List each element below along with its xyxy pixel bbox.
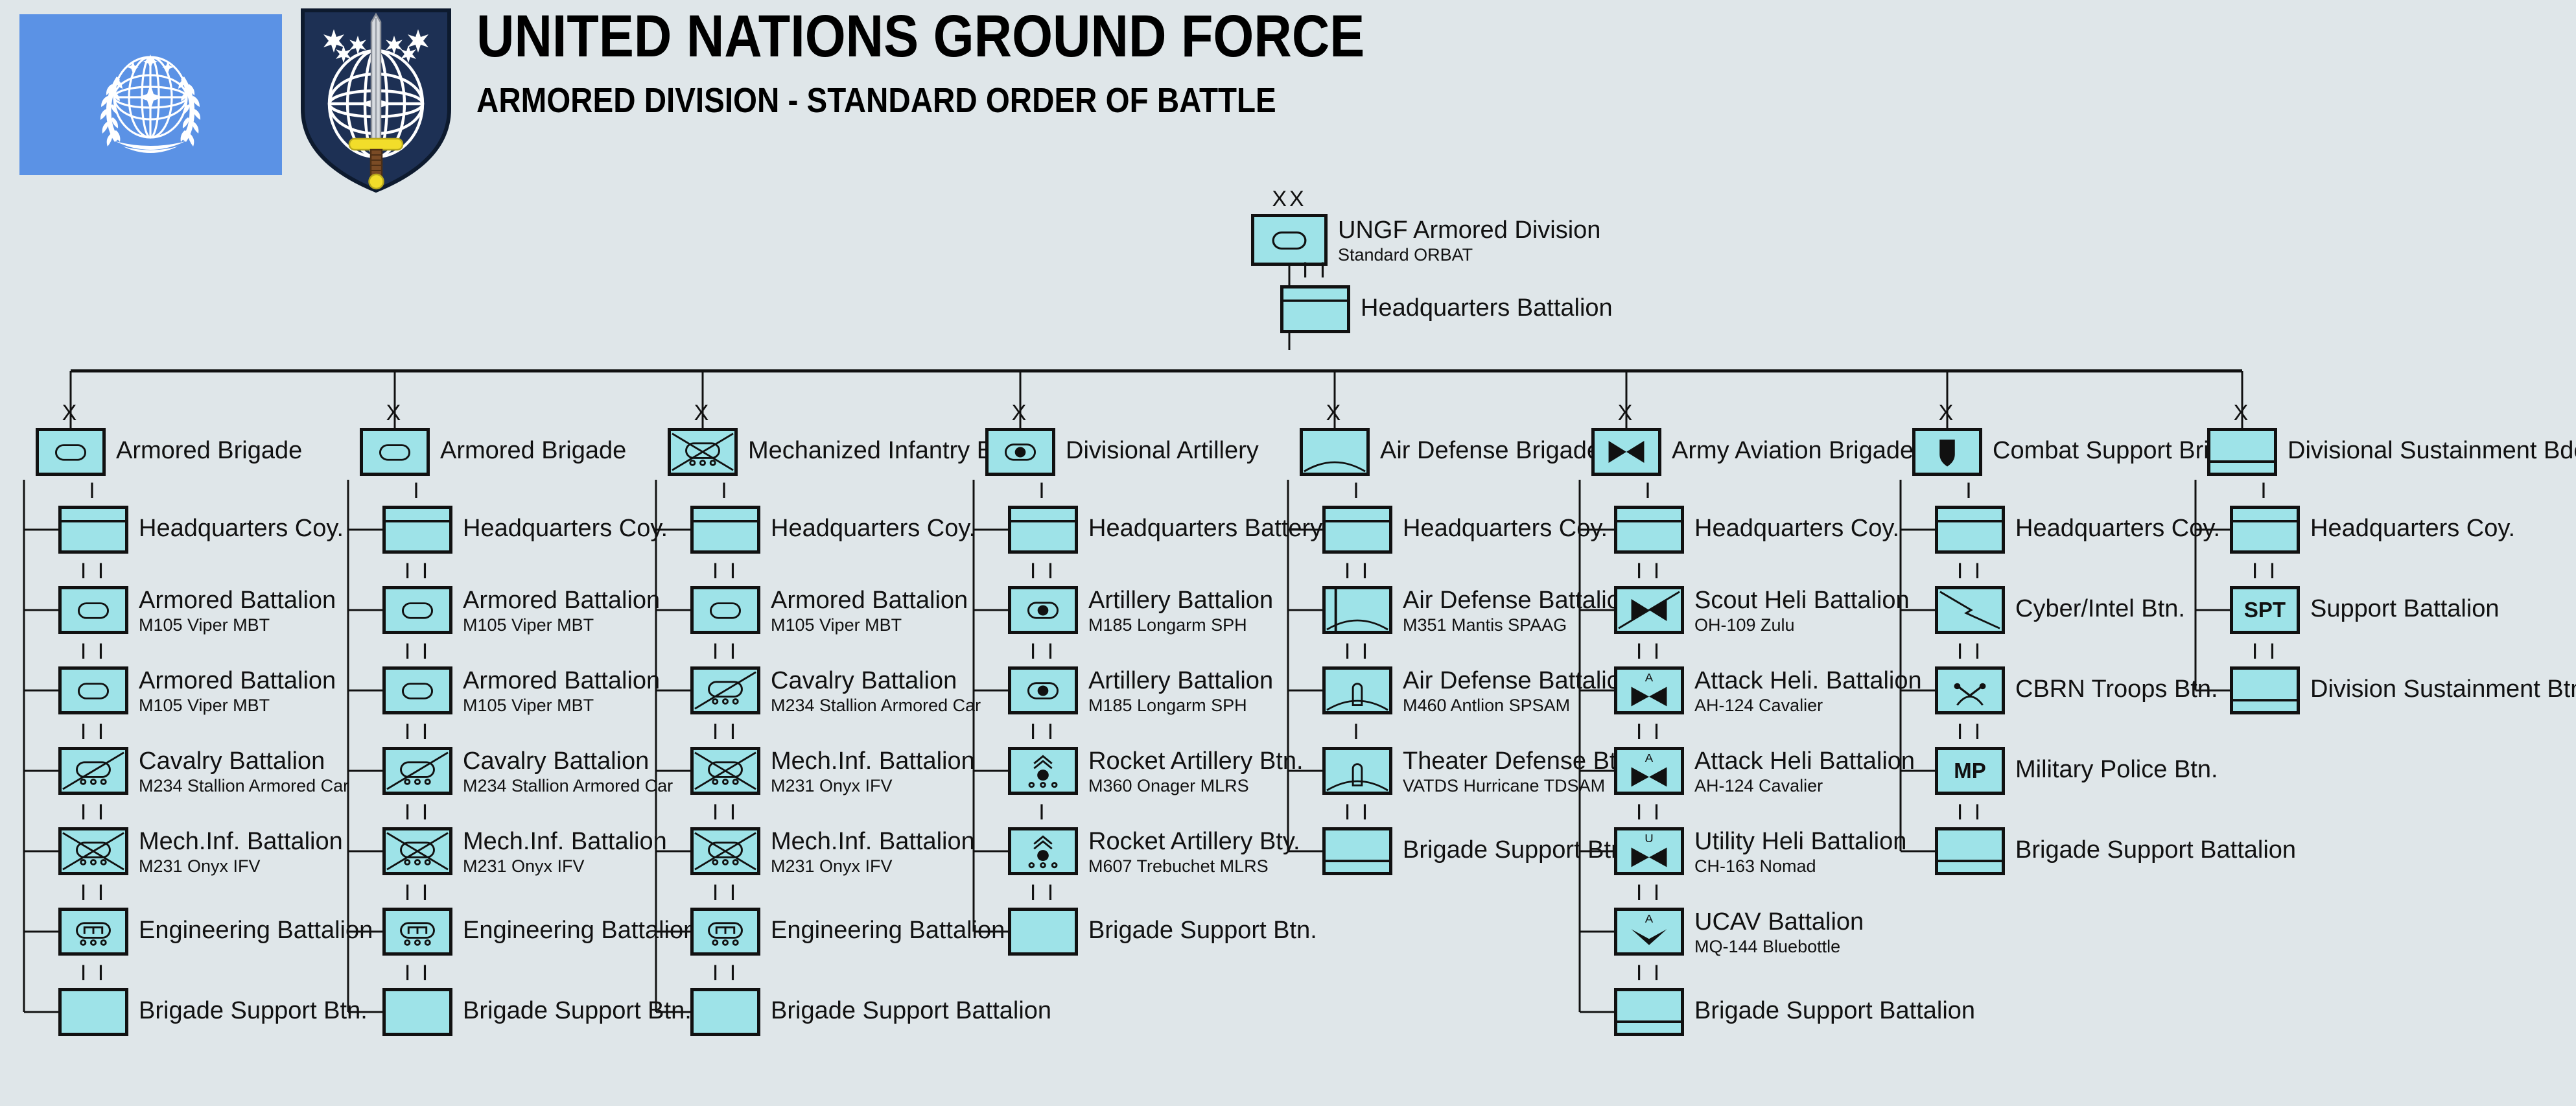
unit-label: Engineering Battalion	[771, 918, 1005, 944]
air-defense-missile-icon	[1322, 666, 1392, 714]
unit-node-brigade-8[interactable]: XDivisional Sustainment Bde.	[2207, 428, 2277, 476]
unit-label: Mech.Inf. BattalionM231 Onyx IFV	[771, 829, 975, 875]
echelon-marker: I I	[58, 721, 128, 743]
unit-name: Headquarters Coy.	[1694, 516, 1899, 542]
echelon-marker: X	[2207, 402, 2277, 424]
headquarters-icon	[690, 506, 760, 554]
echelon-marker: I I	[1935, 560, 2005, 582]
armor-oval-icon	[58, 586, 128, 634]
unit-equipment: AH-124 Cavalier	[1694, 777, 1915, 795]
unit-name: Artillery Battalion	[1088, 668, 1273, 694]
echelon-marker: I I	[58, 560, 128, 582]
unit-node-brigade-4[interactable]: XDivisional Artillery	[985, 428, 1055, 476]
headquarters-icon	[1614, 506, 1684, 554]
unit-label: Military Police Btn.	[2015, 757, 2218, 783]
echelon-marker: I I	[58, 962, 128, 984]
unit-equipment: M231 Onyx IFV	[771, 777, 975, 795]
echelon-marker: X	[1912, 402, 1982, 424]
headquarters-icon	[1322, 506, 1392, 554]
unit-name: Brigade Support Btn.	[1088, 918, 1317, 944]
rocket-artillery-icon	[1008, 747, 1078, 795]
unit-name: Cyber/Intel Btn.	[2015, 596, 2185, 622]
utility-rotary-wing-icon: U	[1614, 827, 1684, 875]
unit-name: Rocket Artillery Bty.	[1088, 829, 1300, 855]
unit-node-child[interactable]: IHeadquarters Coy.	[1614, 506, 1684, 554]
unit-label: Artillery BattalionM185 Longarm SPH	[1088, 668, 1273, 714]
unit-node-child[interactable]: I IArtillery BattalionM185 Longarm SPH	[1008, 586, 1078, 634]
unit-label: Brigade Support Btn.	[463, 998, 692, 1024]
unit-node-child[interactable]: I IArmored BattalionM105 Viper MBT	[58, 666, 128, 714]
unit-label: Armored BattalionM105 Viper MBT	[463, 668, 660, 714]
rotary-wing-icon	[1591, 428, 1661, 476]
unit-node-child[interactable]: I IMech.Inf. BattalionM231 Onyx IFV	[382, 827, 452, 875]
armor-oval-icon	[382, 586, 452, 634]
unit-node-child[interactable]: I ICavalry BattalionM234 Stallion Armore…	[382, 747, 452, 795]
unit-equipment: M234 Stallion Armored Car	[771, 696, 981, 714]
unit-label: Attack Heli. BattalionAH-124 Cavalier	[1694, 668, 1922, 714]
echelon-marker: I I	[1935, 641, 2005, 663]
unit-node-brigade-2[interactable]: XArmored Brigade	[360, 428, 430, 476]
unit-node-child[interactable]: I IRocket Artillery Btn.M360 Onager MLRS	[1008, 747, 1078, 795]
unit-node-child[interactable]: I IMech.Inf. BattalionM231 Onyx IFV	[690, 827, 760, 875]
mech-infantry-icon	[58, 827, 128, 875]
unit-label: Brigade Support Btn.	[1088, 918, 1317, 944]
headquarters-icon	[2230, 506, 2300, 554]
echelon-marker: I I	[1322, 560, 1392, 582]
svg-text:A: A	[1645, 670, 1654, 684]
unit-label: Headquarters Coy.	[139, 516, 344, 542]
unit-name: Headquarters Coy.	[771, 516, 976, 542]
armor-oval-icon	[360, 428, 430, 476]
unit-equipment: Standard ORBAT	[1338, 246, 1600, 264]
svg-text:A: A	[1645, 751, 1654, 764]
unit-node-child[interactable]: I ISPTSupport Battalion	[2230, 586, 2300, 634]
echelon-marker: I I	[58, 641, 128, 663]
unit-label: Armored Brigade	[440, 438, 626, 464]
unit-name: Armored Battalion	[139, 588, 336, 614]
headquarters-icon	[1935, 506, 2005, 554]
echelon-marker: X	[36, 402, 106, 424]
unit-node-child[interactable]: I IBrigade Support Btn.	[58, 988, 128, 1036]
unit-label: Divisional Artillery	[1066, 438, 1259, 464]
artillery-icon	[985, 428, 1055, 476]
echelon-marker: I I	[1008, 721, 1078, 743]
cyber-lightning-icon	[1935, 586, 2005, 634]
unit-name: Air Defense Battalion	[1403, 588, 1634, 614]
unit-label: Armored BattalionM105 Viper MBT	[463, 588, 660, 634]
unit-node-child[interactable]: I IAir Defense BattalionM351 Mantis SPAA…	[1322, 586, 1392, 634]
unit-label: UCAV BattalionMQ-144 Bluebottle	[1694, 910, 1864, 956]
echelon-marker: X	[360, 402, 430, 424]
unit-node-child[interactable]: IHeadquarters Coy.	[690, 506, 760, 554]
attack-rotary-wing-icon: A	[1614, 747, 1684, 795]
unit-node-child[interactable]: IHeadquarters Coy.	[58, 506, 128, 554]
echelon-marker: I	[2230, 480, 2300, 502]
unit-label: Support Battalion	[2310, 596, 2500, 622]
unit-label: Divisional Sustainment Bde.	[2288, 438, 2576, 464]
air-defense-icon	[1300, 428, 1370, 476]
echelon-marker: I I	[1935, 721, 2005, 743]
unit-name: Mech.Inf. Battalion	[771, 829, 975, 855]
unit-node-child[interactable]: I IMech.Inf. BattalionM231 Onyx IFV	[58, 827, 128, 875]
support-text-icon: SPT	[2230, 586, 2300, 634]
unit-equipment: M105 Viper MBT	[771, 616, 968, 634]
unit-node-brigade-7[interactable]: XCombat Support Brigade	[1912, 428, 1982, 476]
unit-name: Headquarters Coy.	[2015, 516, 2220, 542]
echelon-marker: I I	[382, 882, 452, 904]
unit-equipment: M460 Antlion SPSAM	[1403, 696, 1634, 714]
echelon-marker: I I	[1614, 641, 1684, 663]
headquarters-icon	[58, 506, 128, 554]
echelon-marker: I I	[1008, 560, 1078, 582]
echelon-marker: I	[1935, 480, 2005, 502]
unit-label: Cavalry BattalionM234 Stallion Armored C…	[771, 668, 981, 714]
unit-name: Armored Battalion	[771, 588, 968, 614]
unit-node-child[interactable]: I IUUtility Heli BattalionCH-163 Nomad	[1614, 827, 1684, 875]
unit-name: Air Defense Battalion	[1403, 668, 1634, 694]
support-icon	[2230, 666, 2300, 714]
echelon-marker: I I	[690, 801, 760, 823]
unit-node-brigade-6[interactable]: XArmy Aviation Brigade	[1591, 428, 1661, 476]
plain-icon	[58, 988, 128, 1036]
unit-label: Brigade Support Battalion	[771, 998, 1051, 1024]
support-icon	[2207, 428, 2277, 476]
unit-label: Division Sustainment Btn.	[2310, 677, 2576, 703]
unit-name: UCAV Battalion	[1694, 910, 1864, 935]
unit-label: Armored BattalionM105 Viper MBT	[139, 588, 336, 634]
unit-label: Brigade Support Btn.	[139, 998, 368, 1024]
unit-name: Artillery Battalion	[1088, 588, 1273, 614]
rocket-artillery-icon	[1008, 827, 1078, 875]
unit-label: Theater Defense Bty.VATDS Hurricane TDSA…	[1403, 749, 1633, 795]
unit-name: Mech.Inf. Battalion	[463, 829, 667, 855]
air-defense-gun-icon	[1322, 586, 1392, 634]
unit-equipment: M360 Onager MLRS	[1088, 777, 1304, 795]
echelon-marker: I I	[382, 641, 452, 663]
ucav-icon: A	[1614, 908, 1684, 956]
unit-equipment: M185 Longarm SPH	[1088, 696, 1273, 714]
unit-node-child[interactable]: I IAir Defense BattalionM460 Antlion SPS…	[1322, 666, 1392, 714]
unit-node-child[interactable]: I IBrigade Support Btn.	[382, 988, 452, 1036]
unit-node-child[interactable]: I IAAttack Heli BattalionAH-124 Cavalier	[1614, 747, 1684, 795]
unit-node-child[interactable]: I IBrigade Support Battalion	[1614, 988, 1684, 1036]
unit-equipment: M231 Onyx IFV	[139, 857, 343, 875]
echelon-marker: I I	[690, 962, 760, 984]
unit-node-child[interactable]: IHeadquarters Battery	[1008, 506, 1078, 554]
unit-name: Headquarters Coy.	[463, 516, 668, 542]
combat-support-shield-icon	[1912, 428, 1982, 476]
unit-label: Rocket Artillery Bty.M607 Trebuchet MLRS	[1088, 829, 1300, 875]
plain-icon	[382, 988, 452, 1036]
echelon-marker: I I	[1614, 882, 1684, 904]
unit-label: Armored Brigade	[116, 438, 302, 464]
headquarters-icon	[1008, 506, 1078, 554]
unit-equipment: M105 Viper MBT	[139, 616, 336, 634]
unit-node-brigade-3[interactable]: XMechanized Infantry Bde.	[668, 428, 738, 476]
support-icon	[1322, 827, 1392, 875]
unit-name: Headquarters Battalion	[1361, 296, 1613, 322]
unit-label: Cavalry BattalionM234 Stallion Armored C…	[463, 749, 673, 795]
unit-node-child[interactable]: IHeadquarters Coy.	[1935, 506, 2005, 554]
air-defense-missile-icon	[1322, 747, 1392, 795]
unit-label: Brigade Support Battalion	[2015, 838, 2296, 864]
echelon-marker: I I	[58, 801, 128, 823]
unit-name: Engineering Battalion	[139, 918, 373, 944]
echelon-marker: I I	[1935, 801, 2005, 823]
unit-node-child[interactable]: I IBrigade Support Battalion	[690, 988, 760, 1036]
military-police-icon: MP	[1935, 747, 2005, 795]
unit-name: Armored Brigade	[440, 438, 626, 464]
unit-name: Cavalry Battalion	[139, 749, 349, 775]
unit-name: Rocket Artillery Btn.	[1088, 749, 1304, 775]
unit-equipment: M351 Mantis SPAAG	[1403, 616, 1634, 634]
unit-name: Military Police Btn.	[2015, 757, 2218, 783]
armor-oval-icon	[58, 666, 128, 714]
unit-equipment: VATDS Hurricane TDSAM	[1403, 777, 1633, 795]
unit-equipment: M231 Onyx IFV	[771, 857, 975, 875]
unit-name: Headquarters Coy.	[2310, 516, 2515, 542]
unit-name: Theater Defense Bty.	[1403, 749, 1633, 775]
unit-node-child[interactable]: ITheater Defense Bty.VATDS Hurricane TDS…	[1322, 747, 1392, 795]
unit-label: Utility Heli BattalionCH-163 Nomad	[1694, 829, 1906, 875]
unit-node-child[interactable]: I IScout Heli BattalionOH-109 Zulu	[1614, 586, 1684, 634]
unit-label: Headquarters Coy.	[1694, 516, 1899, 542]
echelon-marker: I I	[382, 801, 452, 823]
unit-label: Cavalry BattalionM234 Stallion Armored C…	[139, 749, 349, 795]
unit-label: Brigade Support Battalion	[1694, 998, 1975, 1024]
echelon-marker: I I	[2230, 560, 2300, 582]
unit-node-child[interactable]: I ICavalry BattalionM234 Stallion Armore…	[58, 747, 128, 795]
artillery-icon	[1008, 586, 1078, 634]
echelon-marker: I	[1008, 801, 1078, 823]
unit-node-brigade-5[interactable]: XAir Defense Brigade	[1300, 428, 1370, 476]
echelon-marker: I	[1322, 480, 1392, 502]
unit-name: Divisional Artillery	[1066, 438, 1259, 464]
artillery-icon	[1008, 666, 1078, 714]
unit-node-child[interactable]: IHeadquarters Coy.	[382, 506, 452, 554]
echelon-marker: I	[1322, 721, 1392, 743]
echelon-marker: I I	[1280, 259, 1350, 281]
cbrn-icon	[1935, 666, 2005, 714]
unit-label: Attack Heli BattalionAH-124 Cavalier	[1694, 749, 1915, 795]
unit-label: Headquarters Coy.	[2015, 516, 2220, 542]
unit-node-child[interactable]: I IArtillery BattalionM185 Longarm SPH	[1008, 666, 1078, 714]
headquarters-icon	[1280, 285, 1350, 333]
unit-label: Rocket Artillery Btn.M360 Onager MLRS	[1088, 749, 1304, 795]
echelon-marker: X	[668, 402, 738, 424]
scout-rotary-wing-icon	[1614, 586, 1684, 634]
unit-node-brigade-1[interactable]: XArmored Brigade	[36, 428, 106, 476]
orbat-chart: XXUNGF Armored DivisionStandard ORBATI I…	[0, 0, 2576, 1106]
echelon-marker: I	[1614, 480, 1684, 502]
unit-node-child[interactable]: I IArmored BattalionM105 Viper MBT	[690, 586, 760, 634]
unit-label: Mech.Inf. BattalionM231 Onyx IFV	[463, 829, 667, 875]
echelon-marker: X	[1300, 402, 1370, 424]
unit-node-child[interactable]: I IAAttack Heli. BattalionAH-124 Cavalie…	[1614, 666, 1684, 714]
unit-label: Headquarters Battalion	[1361, 296, 1613, 322]
unit-name: Brigade Support Btn.	[1403, 838, 1632, 864]
unit-label: Air Defense BattalionM351 Mantis SPAAG	[1403, 588, 1634, 634]
mech-infantry-icon	[668, 428, 738, 476]
unit-name: Headquarters Coy.	[139, 516, 344, 542]
unit-label: Engineering Battalion	[463, 918, 697, 944]
unit-name: Headquarters Battery	[1088, 516, 1322, 542]
unit-name: Cavalry Battalion	[463, 749, 673, 775]
unit-name: Brigade Support Btn.	[139, 998, 368, 1024]
unit-node-child[interactable]: I ICyber/Intel Btn.	[1935, 586, 2005, 634]
unit-node-child[interactable]: I IArmored BattalionM105 Viper MBT	[382, 666, 452, 714]
symbol-text-badge: SPT	[2233, 589, 2297, 631]
unit-node-child[interactable]: IRocket Artillery Bty.M607 Trebuchet MLR…	[1008, 827, 1078, 875]
unit-equipment: M105 Viper MBT	[139, 696, 336, 714]
unit-name: Mech.Inf. Battalion	[771, 749, 975, 775]
unit-equipment: AH-124 Cavalier	[1694, 696, 1922, 714]
unit-name: Brigade Support Battalion	[771, 998, 1051, 1024]
svg-text:A: A	[1645, 912, 1654, 925]
unit-label: Scout Heli BattalionOH-109 Zulu	[1694, 588, 1910, 634]
unit-label: Armored BattalionM105 Viper MBT	[139, 668, 336, 714]
unit-label: UNGF Armored DivisionStandard ORBAT	[1338, 218, 1600, 264]
unit-label: Headquarters Coy.	[2310, 516, 2515, 542]
echelon-marker: I I	[382, 962, 452, 984]
unit-label: Mech.Inf. BattalionM231 Onyx IFV	[771, 749, 975, 795]
unit-name: Armored Brigade	[116, 438, 302, 464]
unit-equipment: M234 Stallion Armored Car	[463, 777, 673, 795]
unit-name: Engineering Battalion	[771, 918, 1005, 944]
unit-label: Air Defense Brigade	[1380, 438, 1600, 464]
unit-name: Engineering Battalion	[463, 918, 697, 944]
echelon-marker: I I	[382, 560, 452, 582]
echelon-marker: X	[1591, 402, 1661, 424]
unit-name: Army Aviation Brigade	[1672, 438, 1914, 464]
unit-label: Engineering Battalion	[139, 918, 373, 944]
mech-infantry-icon	[690, 747, 760, 795]
unit-name: Division Sustainment Btn.	[2310, 677, 2576, 703]
unit-label: Brigade Support Btn.	[1403, 838, 1632, 864]
echelon-marker: I	[58, 480, 128, 502]
unit-node-child[interactable]: I IArmored BattalionM105 Viper MBT	[382, 586, 452, 634]
attack-rotary-wing-icon: A	[1614, 666, 1684, 714]
unit-node-child[interactable]: I ICavalry BattalionM234 Stallion Armore…	[690, 666, 760, 714]
unit-equipment: OH-109 Zulu	[1694, 616, 1910, 634]
unit-label: Headquarters Coy.	[1403, 516, 1608, 542]
echelon-marker: I I	[2230, 641, 2300, 663]
echelon-marker: I I	[690, 560, 760, 582]
unit-equipment: M234 Stallion Armored Car	[139, 777, 349, 795]
unit-node-child[interactable]: I IBrigade Support Battalion	[1935, 827, 2005, 875]
unit-node-child[interactable]: I IArmored BattalionM105 Viper MBT	[58, 586, 128, 634]
unit-name: Utility Heli Battalion	[1694, 829, 1906, 855]
echelon-marker: I	[382, 480, 452, 502]
unit-label: CBRN Troops Btn.	[2015, 677, 2218, 703]
unit-node-child[interactable]: IHeadquarters Coy.	[2230, 506, 2300, 554]
echelon-marker: I I	[1008, 641, 1078, 663]
unit-name: Armored Battalion	[463, 588, 660, 614]
unit-label: Headquarters Coy.	[771, 516, 976, 542]
unit-equipment: M231 Onyx IFV	[463, 857, 667, 875]
cavalry-wheeled-icon	[382, 747, 452, 795]
unit-node-child[interactable]: IHeadquarters Coy.	[1322, 506, 1392, 554]
unit-name: CBRN Troops Btn.	[2015, 677, 2218, 703]
unit-label: Armored BattalionM105 Viper MBT	[771, 588, 968, 634]
unit-name: Brigade Support Battalion	[2015, 838, 2296, 864]
unit-name: Mech.Inf. Battalion	[139, 829, 343, 855]
unit-equipment: M185 Longarm SPH	[1088, 616, 1273, 634]
unit-node-child[interactable]: I IEngineering Battalion	[690, 908, 760, 956]
unit-name: Headquarters Coy.	[1403, 516, 1608, 542]
unit-name: Armored Battalion	[463, 668, 660, 694]
engineer-icon	[58, 908, 128, 956]
echelon-marker: I I	[1614, 801, 1684, 823]
cavalry-wheeled-icon	[58, 747, 128, 795]
symbol-text-badge: MP	[1938, 750, 2002, 792]
unit-name: Armored Battalion	[139, 668, 336, 694]
unit-label: Mech.Inf. BattalionM231 Onyx IFV	[139, 829, 343, 875]
echelon-marker: I I	[1614, 560, 1684, 582]
unit-label: Cyber/Intel Btn.	[2015, 596, 2185, 622]
headquarters-icon	[382, 506, 452, 554]
armor-oval-icon	[36, 428, 106, 476]
echelon-marker: I I	[1614, 962, 1684, 984]
echelon-marker: I I	[690, 721, 760, 743]
echelon-marker: I I	[1008, 882, 1078, 904]
echelon-marker: I	[690, 480, 760, 502]
echelon-marker: I I	[58, 882, 128, 904]
unit-node-child[interactable]: I IMPMilitary Police Btn.	[1935, 747, 2005, 795]
unit-label: Headquarters Coy.	[463, 516, 668, 542]
unit-node-child[interactable]: I IDivision Sustainment Btn.	[2230, 666, 2300, 714]
echelon-marker: I I	[1614, 721, 1684, 743]
unit-name: Air Defense Brigade	[1380, 438, 1600, 464]
echelon-marker: I I	[1322, 801, 1392, 823]
svg-text:U: U	[1645, 831, 1653, 845]
unit-node-hq-battalion[interactable]: I IHeadquarters Battalion	[1280, 285, 1350, 333]
echelon-marker: XX	[1251, 188, 1328, 210]
unit-equipment: M607 Trebuchet MLRS	[1088, 857, 1300, 875]
unit-label: Headquarters Battery	[1088, 516, 1322, 542]
unit-name: Divisional Sustainment Bde.	[2288, 438, 2576, 464]
engineer-icon	[690, 908, 760, 956]
mech-infantry-icon	[690, 827, 760, 875]
unit-label: Army Aviation Brigade	[1672, 438, 1914, 464]
mech-infantry-icon	[382, 827, 452, 875]
unit-node-child[interactable]: I IBrigade Support Btn.	[1322, 827, 1392, 875]
unit-equipment: CH-163 Nomad	[1694, 857, 1906, 875]
unit-equipment: MQ-144 Bluebottle	[1694, 937, 1864, 956]
unit-equipment: M105 Viper MBT	[463, 696, 660, 714]
plain-icon	[690, 988, 760, 1036]
armor-oval-icon	[690, 586, 760, 634]
unit-node-child[interactable]: I IEngineering Battalion	[382, 908, 452, 956]
unit-node-child[interactable]: I IBrigade Support Btn.	[1008, 908, 1078, 956]
support-icon	[1614, 988, 1684, 1036]
unit-name: UNGF Armored Division	[1338, 218, 1600, 244]
echelon-marker: I I	[1322, 641, 1392, 663]
unit-node-child[interactable]: I IEngineering Battalion	[58, 908, 128, 956]
unit-node-child[interactable]: I IAUCAV BattalionMQ-144 Bluebottle	[1614, 908, 1684, 956]
unit-node-child[interactable]: I ICBRN Troops Btn.	[1935, 666, 2005, 714]
echelon-marker: I I	[382, 721, 452, 743]
cavalry-wheeled-icon	[690, 666, 760, 714]
armor-oval-icon	[382, 666, 452, 714]
unit-node-child[interactable]: I IMech.Inf. BattalionM231 Onyx IFV	[690, 747, 760, 795]
echelon-marker: X	[985, 402, 1055, 424]
unit-name: Scout Heli Battalion	[1694, 588, 1910, 614]
unit-label: Air Defense BattalionM460 Antlion SPSAM	[1403, 668, 1634, 714]
engineer-icon	[382, 908, 452, 956]
unit-name: Support Battalion	[2310, 596, 2500, 622]
unit-name: Cavalry Battalion	[771, 668, 981, 694]
